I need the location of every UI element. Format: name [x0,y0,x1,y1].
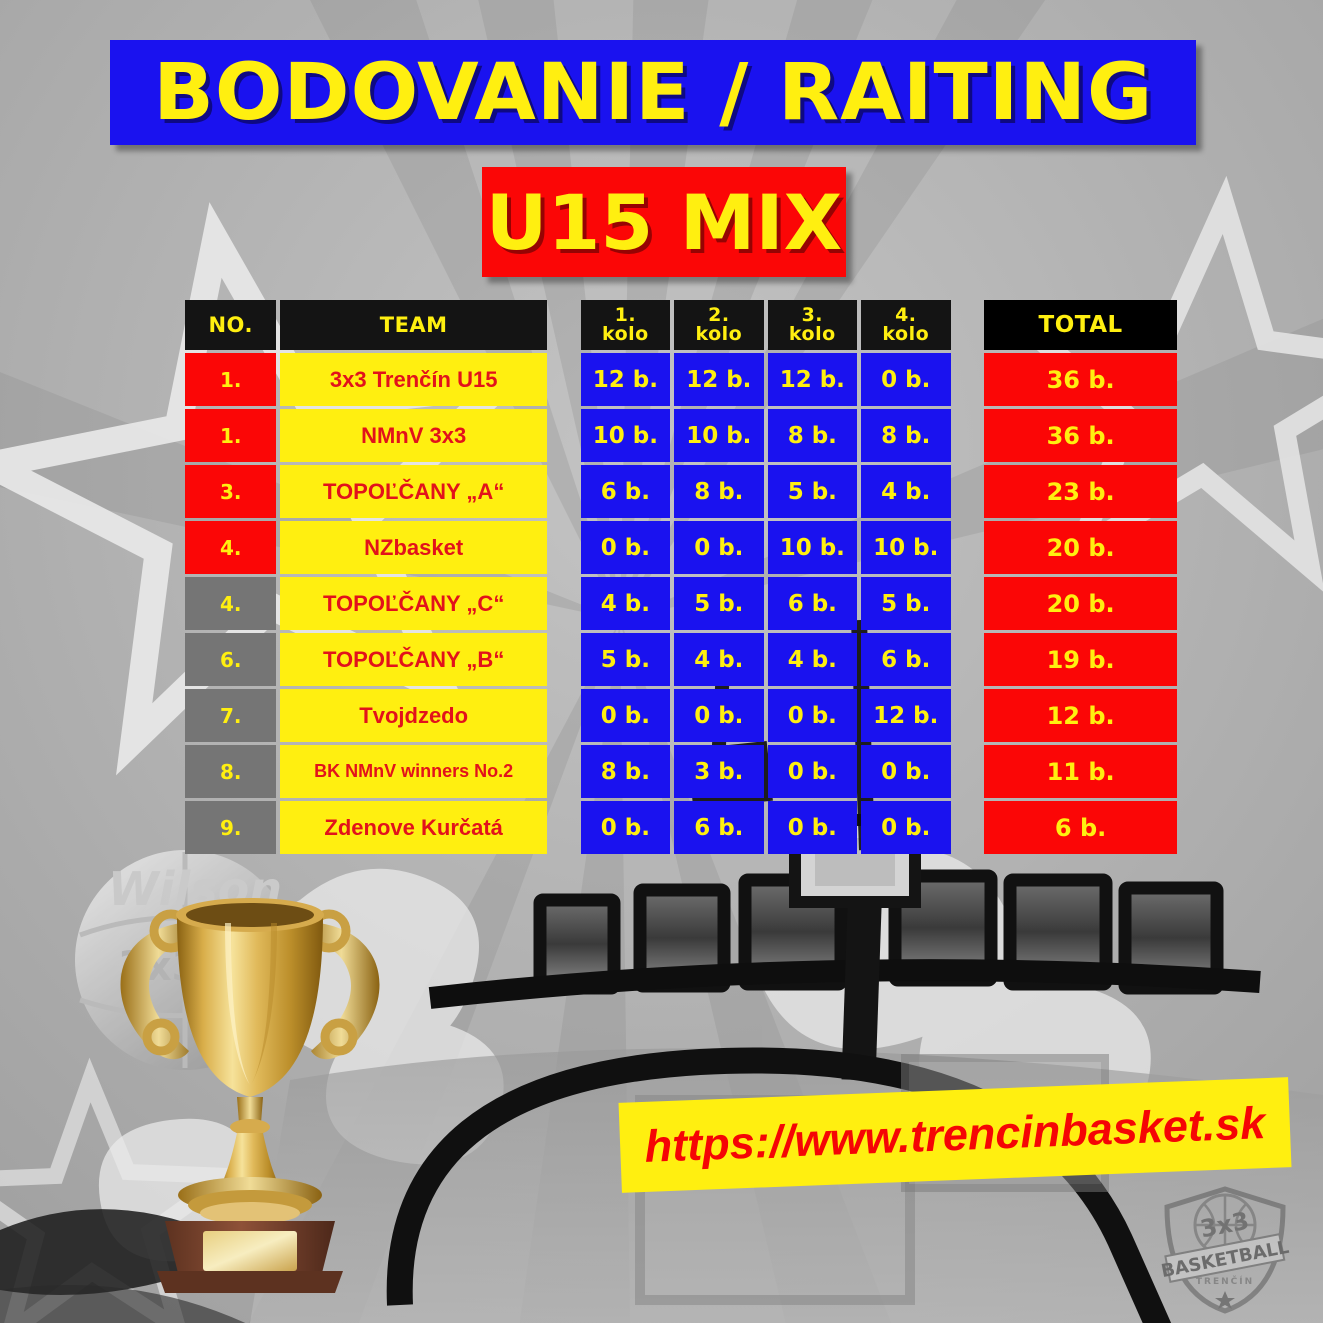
page-title-banner: BODOVANIE / RAITING [110,40,1196,145]
spacer-right [955,633,981,686]
round-1-score-cell: 5 b. [581,633,670,686]
total-score-cell: 19 b. [984,633,1177,686]
spacer-left [551,300,577,350]
spacer-left [551,745,577,798]
website-url-text[interactable]: https://www.trencinbasket.sk [644,1097,1267,1173]
spacer-right [955,465,981,518]
spacer-right [955,409,981,462]
total-score-cell: 12 b. [984,689,1177,742]
team-name-cell: NMnV 3x3 [280,409,546,462]
round-4-score-cell: 0 b. [861,801,950,854]
table-row: 1.NMnV 3x310 b.10 b.8 b.8 b.36 b. [185,409,1177,462]
spacer-left [551,465,577,518]
round-4-word: kolo [861,325,950,344]
spacer-right [955,300,981,350]
round-4-score-cell: 4 b. [861,465,950,518]
column-header-total: TOTAL [984,300,1177,350]
page-title: BODOVANIE / RAITING [153,48,1153,138]
round-3-score-cell: 10 b. [768,521,857,574]
team-name-cell: NZbasket [280,521,546,574]
spacer-left [551,353,577,406]
rank-cell: 7. [185,689,276,742]
rank-cell: 6. [185,633,276,686]
round-3-score-cell: 0 b. [768,745,857,798]
total-score-cell: 20 b. [984,521,1177,574]
team-name-cell: TOPOĽČANY „B“ [280,633,546,686]
rank-cell: 1. [185,409,276,462]
spacer-right [955,353,981,406]
column-header-no: NO. [185,300,276,350]
round-1-score-cell: 8 b. [581,745,670,798]
standings-table-container: NO. TEAM 1. kolo 2. kolo 3. kolo 4. kolo [181,297,1181,857]
round-2-score-cell: 10 b. [674,409,763,462]
round-2-score-cell: 0 b. [674,689,763,742]
spacer-left [551,801,577,854]
column-header-round-2: 2. kolo [674,300,763,350]
rank-cell: 4. [185,577,276,630]
round-2-score-cell: 5 b. [674,577,763,630]
round-3-score-cell: 4 b. [768,633,857,686]
rank-cell: 4. [185,521,276,574]
category-title: U15 MIX [486,178,842,267]
table-row: 4.TOPOĽČANY „C“4 b.5 b.6 b.5 b.20 b. [185,577,1177,630]
round-3-score-cell: 0 b. [768,801,857,854]
column-header-team: TEAM [280,300,546,350]
team-name-cell: Tvojdzedo [280,689,546,742]
team-name-cell: TOPOĽČANY „A“ [280,465,546,518]
spacer-left [551,689,577,742]
round-1-score-cell: 12 b. [581,353,670,406]
round-3-word: kolo [768,325,857,344]
standings-table: NO. TEAM 1. kolo 2. kolo 3. kolo 4. kolo [181,297,1181,857]
column-header-round-4: 4. kolo [861,300,950,350]
spacer-left [551,409,577,462]
total-score-cell: 36 b. [984,409,1177,462]
table-row: 8.BK NMnV winners No.28 b.3 b.0 b.0 b.11… [185,745,1177,798]
rank-cell: 1. [185,353,276,406]
round-4-score-cell: 6 b. [861,633,950,686]
round-1-score-cell: 4 b. [581,577,670,630]
total-score-cell: 11 b. [984,745,1177,798]
column-header-round-1: 1. kolo [581,300,670,350]
spacer-left [551,633,577,686]
round-2-score-cell: 8 b. [674,465,763,518]
total-score-cell: 20 b. [984,577,1177,630]
round-1-score-cell: 0 b. [581,521,670,574]
round-2-score-cell: 6 b. [674,801,763,854]
round-4-score-cell: 0 b. [861,745,950,798]
club-logo: 3x3 BASKETBALL TRENČÍN [1155,1185,1295,1315]
trophy-icon [85,875,415,1295]
round-4-score-cell: 5 b. [861,577,950,630]
spacer-left [551,577,577,630]
rank-cell: 9. [185,801,276,854]
total-score-cell: 23 b. [984,465,1177,518]
round-2-score-cell: 4 b. [674,633,763,686]
round-3-score-cell: 8 b. [768,409,857,462]
spacer-right [955,745,981,798]
round-1-word: kolo [581,325,670,344]
category-banner: U15 MIX [482,167,846,277]
round-2-score-cell: 0 b. [674,521,763,574]
table-body: 1.3x3 Trenčín U1512 b.12 b.12 b.0 b.36 b… [185,353,1177,854]
round-1-score-cell: 6 b. [581,465,670,518]
round-2-word: kolo [674,325,763,344]
round-1-score-cell: 0 b. [581,801,670,854]
spacer-right [955,801,981,854]
round-3-score-cell: 12 b. [768,353,857,406]
team-name-cell: Zdenove Kurčatá [280,801,546,854]
team-name-cell: BK NMnV winners No.2 [280,745,546,798]
logo-3x3-text: 3x3 [1198,1207,1251,1244]
table-row: 9.Zdenove Kurčatá0 b.6 b.0 b.0 b.6 b. [185,801,1177,854]
total-score-cell: 6 b. [984,801,1177,854]
team-name-cell: 3x3 Trenčín U15 [280,353,546,406]
logo-trencin-text: TRENČÍN [1196,1275,1254,1287]
round-4-score-cell: 10 b. [861,521,950,574]
total-score-cell: 36 b. [984,353,1177,406]
round-2-score-cell: 3 b. [674,745,763,798]
round-4-score-cell: 8 b. [861,409,950,462]
table-row: 6.TOPOĽČANY „B“5 b.4 b.4 b.6 b.19 b. [185,633,1177,686]
rank-cell: 8. [185,745,276,798]
round-3-score-cell: 0 b. [768,689,857,742]
round-3-score-cell: 5 b. [768,465,857,518]
rank-cell: 3. [185,465,276,518]
round-4-score-cell: 12 b. [861,689,950,742]
spacer-left [551,521,577,574]
table-row: 7.Tvojdzedo0 b.0 b.0 b.12 b.12 b. [185,689,1177,742]
team-name-cell: TOPOĽČANY „C“ [280,577,546,630]
column-header-round-3: 3. kolo [768,300,857,350]
spacer-right [955,521,981,574]
table-row: 4.NZbasket0 b.0 b.10 b.10 b.20 b. [185,521,1177,574]
table-row: 1.3x3 Trenčín U1512 b.12 b.12 b.0 b.36 b… [185,353,1177,406]
spacer-right [955,689,981,742]
round-2-score-cell: 12 b. [674,353,763,406]
spacer-right [955,577,981,630]
table-row: 3.TOPOĽČANY „A“6 b.8 b.5 b.4 b.23 b. [185,465,1177,518]
table-header-row: NO. TEAM 1. kolo 2. kolo 3. kolo 4. kolo [185,300,1177,350]
round-3-score-cell: 6 b. [768,577,857,630]
round-1-score-cell: 10 b. [581,409,670,462]
round-4-score-cell: 0 b. [861,353,950,406]
round-1-score-cell: 0 b. [581,689,670,742]
